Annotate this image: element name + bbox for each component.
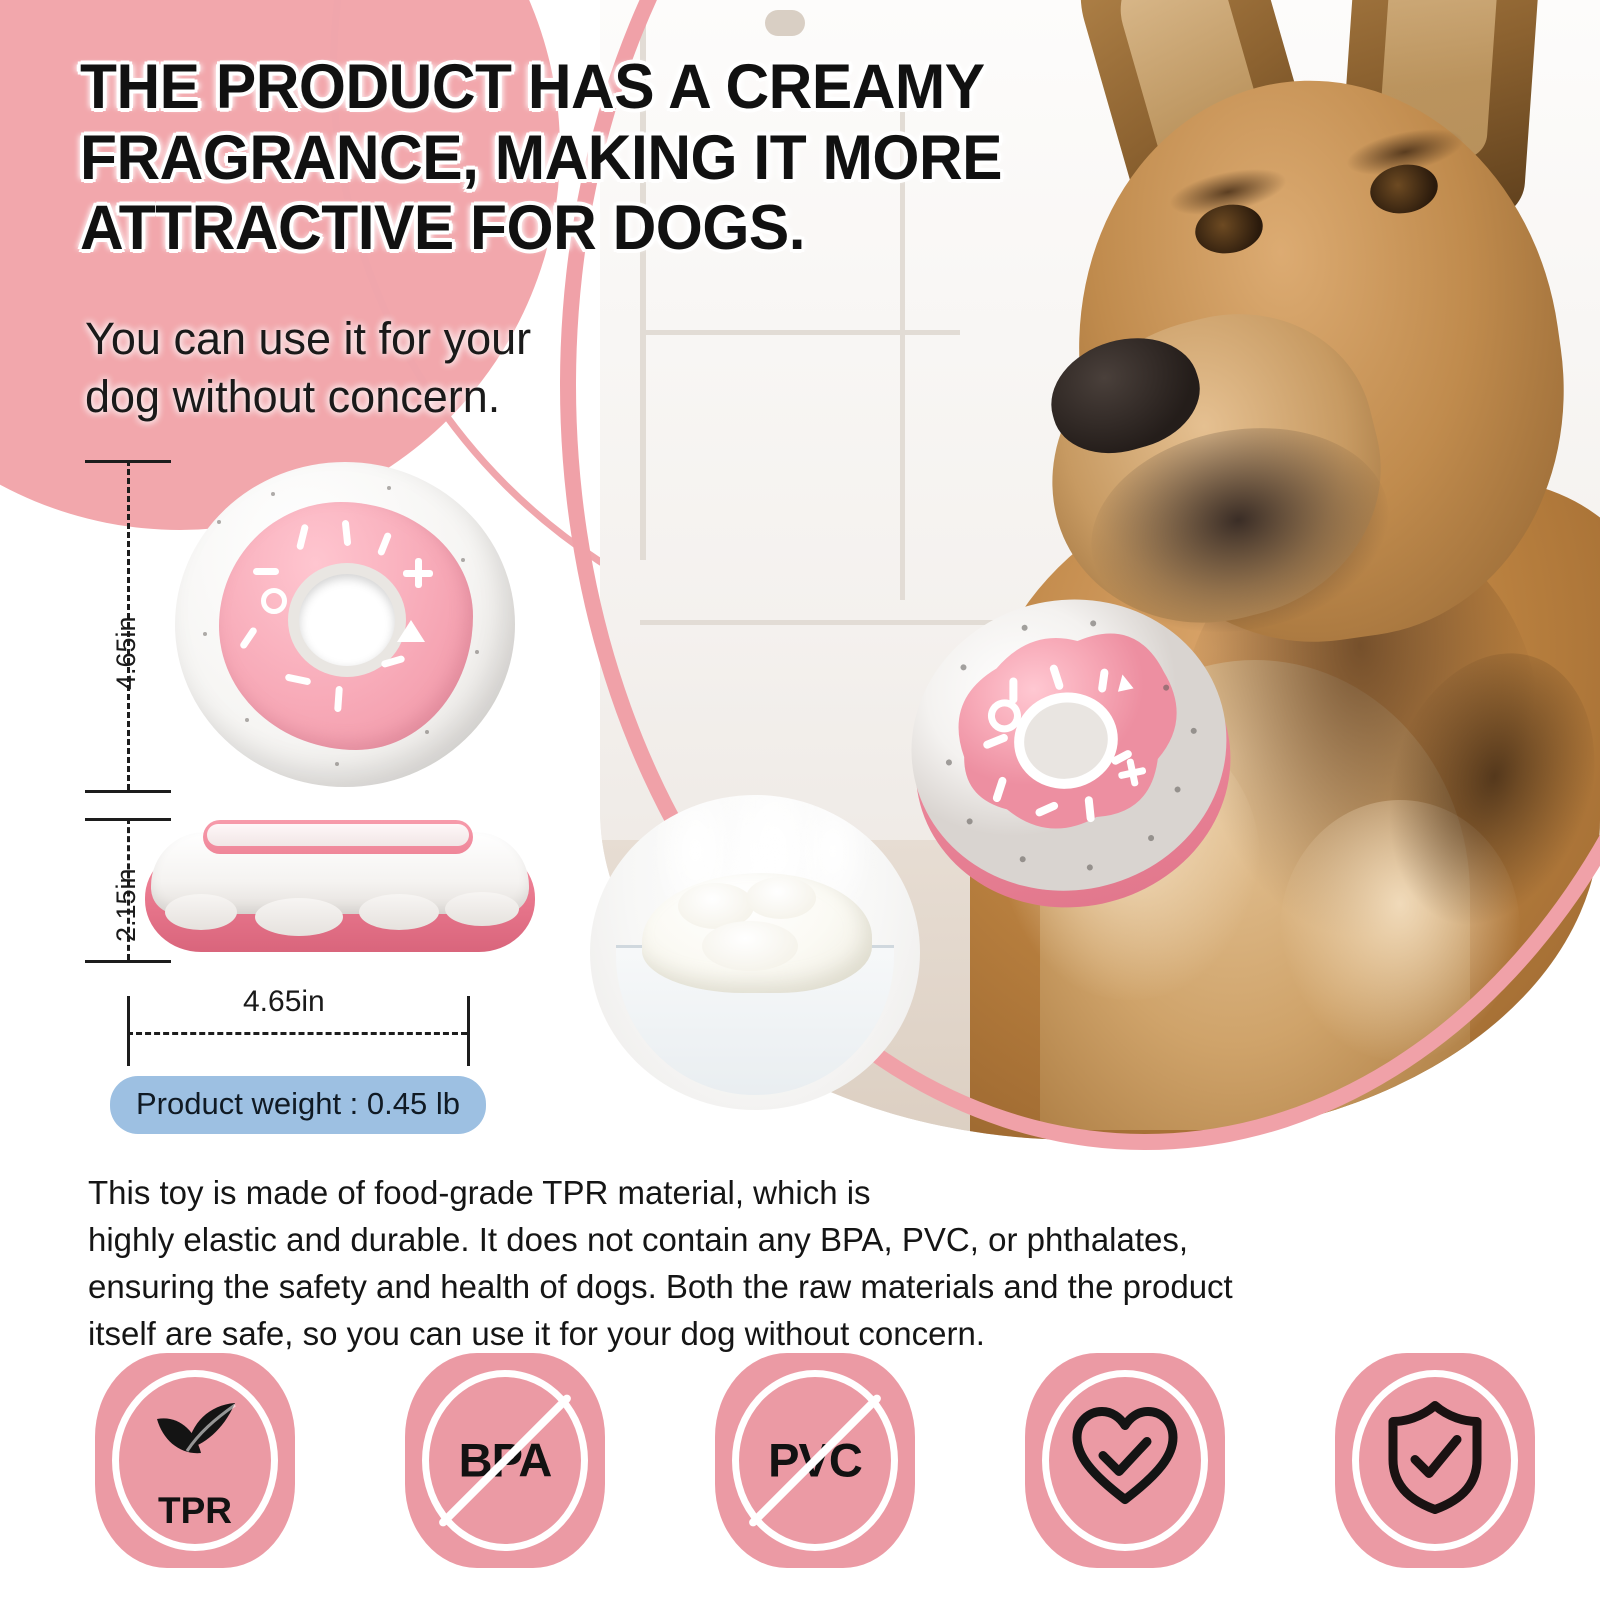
headline-line-2: FRAGRANCE, MAKING IT MORE <box>80 123 1002 193</box>
badge-bpa: BPA <box>405 1353 605 1568</box>
badge-shield-check <box>1335 1353 1535 1568</box>
description-line-3: ensuring the safety and health of dogs. … <box>88 1264 1508 1311</box>
product-top-view <box>175 462 515 787</box>
product-weight-badge: Product weight : 0.45 lb <box>110 1076 486 1134</box>
subheadline-line-1: You can use it for your <box>85 313 531 364</box>
subheadline-line-2: dog without concern. <box>85 371 500 422</box>
donut-hole <box>299 574 395 666</box>
dimension-width-label: 4.65in <box>243 985 325 1019</box>
badge-tpr: TPR <box>95 1353 295 1568</box>
product-dimension-diagram: 4.65in 2.15in 4.65in <box>85 450 555 1060</box>
badge-label: TPR <box>95 1490 295 1532</box>
certification-badge-row: TPR BPA PVC <box>95 1345 1535 1575</box>
headline-line-1: THE PRODUCT HAS A CREAMY <box>80 52 985 122</box>
badge-pvc: PVC <box>715 1353 915 1568</box>
donut-top-highlight <box>207 824 469 846</box>
description-line-2: highly elastic and durable. It does not … <box>88 1217 1508 1264</box>
dimension-height-label: 4.65in <box>111 616 142 690</box>
leaf-icon <box>95 1397 295 1482</box>
description-line-1: This toy is made of food-grade TPR mater… <box>88 1170 1508 1217</box>
product-side-view <box>145 820 535 955</box>
subheadline: You can use it for your dog without conc… <box>85 310 785 425</box>
cream-bowl-inset <box>590 795 920 1110</box>
heart-check-icon <box>1069 1406 1181 1515</box>
dimension-depth-label: 2.15in <box>111 868 142 942</box>
description-paragraph: This toy is made of food-grade TPR mater… <box>88 1170 1508 1357</box>
badge-heart-check <box>1025 1353 1225 1568</box>
shield-check-icon <box>1383 1400 1487 1521</box>
headline-line-3: ATTRACTIVE FOR DOGS. <box>80 193 805 263</box>
page-title: THE PRODUCT HAS A CREAMY FRAGRANCE, MAKI… <box>80 52 1270 264</box>
